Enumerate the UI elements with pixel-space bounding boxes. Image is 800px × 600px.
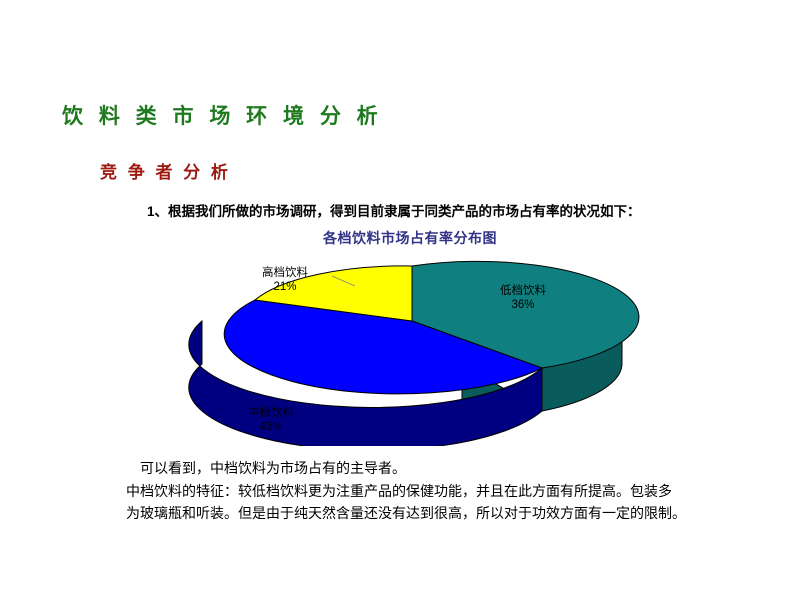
pie-label-low: 低档饮料 36% bbox=[480, 284, 566, 313]
slide-canvas: 饮 料 类 市 场 环 境 分 析 竞 争 者 分 析 1、根据我们所做的市场调… bbox=[0, 0, 800, 600]
pie-label-high-value: 21% bbox=[242, 280, 328, 294]
conclusion-line-1: 可以看到，中档饮料为市场占有的主导者。 bbox=[140, 458, 406, 478]
pie-label-low-value: 36% bbox=[480, 298, 566, 312]
pie-label-mid: 中档饮料 43% bbox=[228, 406, 314, 435]
section-title: 竞 争 者 分 析 bbox=[100, 158, 231, 183]
conclusion-line-3: 为玻璃瓶和听装。但是由于纯天然含量还没有达到很高，所以对于功效方面有一定的限制。 bbox=[126, 503, 686, 523]
pie-label-low-name: 低档饮料 bbox=[500, 285, 546, 297]
conclusion-line-2: 中档饮料的特征：较低档饮料更为注重产品的保健功能，并且在此方面有所提高。包装多 bbox=[126, 481, 672, 501]
pie-label-high: 高档饮料 21% bbox=[242, 266, 328, 295]
pie-label-mid-value: 43% bbox=[228, 420, 314, 434]
chart-title: 各档饮料市场占有率分布图 bbox=[180, 228, 640, 248]
pie-label-mid-name: 中档饮料 bbox=[248, 407, 294, 419]
pie-label-high-name: 高档饮料 bbox=[262, 267, 308, 279]
page-title: 饮 料 类 市 场 环 境 分 析 bbox=[62, 100, 383, 130]
numbered-point-text: 1、根据我们所做的市场调研，得到目前隶属于同类产品的市场占有率的状况如下： bbox=[147, 200, 641, 220]
pie-chart: 各档饮料市场占有率分布图 高档饮料 bbox=[180, 228, 640, 453]
